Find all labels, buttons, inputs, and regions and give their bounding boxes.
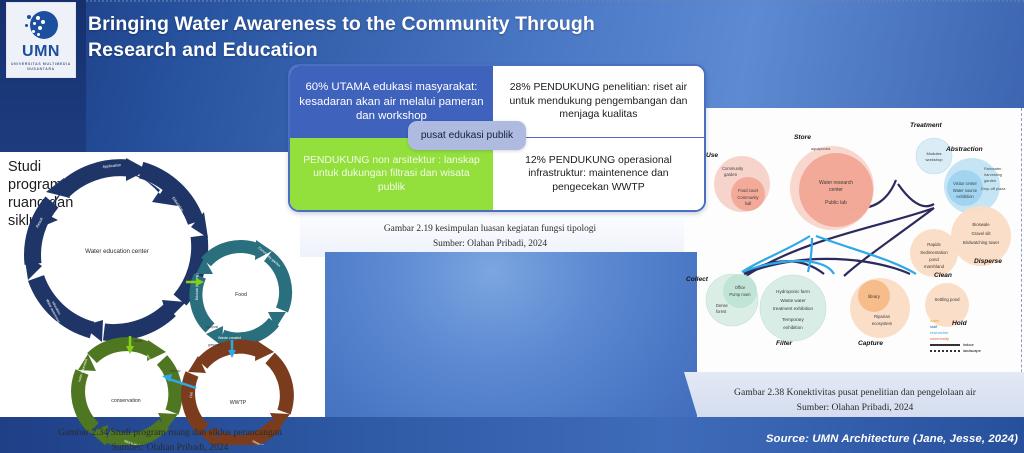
svg-text:Edukasi (farming): Edukasi (farming) bbox=[195, 273, 199, 300]
logo-dot-icon bbox=[41, 20, 45, 24]
bubble-group-clean: Rapids Sedimentation pond marshland bbox=[910, 229, 958, 277]
svg-text:ecosystem: ecosystem bbox=[872, 321, 893, 326]
footer-source-note: Source: UMN Architecture (Jane, Jesse, 2… bbox=[766, 433, 1018, 445]
logo-dot-icon bbox=[37, 33, 40, 36]
svg-text:Bioswale: Bioswale bbox=[972, 222, 990, 227]
svg-text:edukasi: edukasi bbox=[165, 284, 175, 296]
svg-text:Drop-off plaza: Drop-off plaza bbox=[981, 186, 1006, 191]
logo-dot-icon bbox=[27, 15, 31, 19]
legend-swatch-solid-icon bbox=[930, 344, 960, 346]
svg-text:greywater: greywater bbox=[208, 343, 223, 347]
svg-text:Modules: Modules bbox=[926, 151, 941, 156]
logo-dot-icon bbox=[32, 30, 35, 33]
logo-dot-icon bbox=[36, 16, 40, 20]
svg-text:Rainwater: Rainwater bbox=[984, 166, 1002, 171]
logo-tagline: UNIVERSITAS MULTIMEDIA NUSANTARA bbox=[7, 62, 75, 72]
logo-dot-icon bbox=[33, 22, 36, 25]
bubble-group-filter: Hydroponic farm Waste water treatment ex… bbox=[760, 275, 826, 341]
svg-text:Food court: Food court bbox=[738, 188, 759, 193]
page-title: Bringing Water Awareness to the Communit… bbox=[88, 12, 648, 63]
ring-water-education-center: Water education center Application Educa… bbox=[24, 158, 208, 342]
svg-text:forest: forest bbox=[716, 309, 727, 314]
svg-text:Community: Community bbox=[722, 166, 744, 171]
zone-label-disperse: Disperse bbox=[974, 258, 1002, 265]
svg-text:siklus: siklus bbox=[134, 339, 142, 343]
svg-text:aquaponics: aquaponics bbox=[811, 147, 831, 151]
svg-text:Birdwatching tower: Birdwatching tower bbox=[963, 240, 1000, 245]
middle-caption-source: Sumber: Olahan Pribadi, 2024 bbox=[330, 237, 650, 252]
bubble-group-collect: Office Pump room Dense forest bbox=[706, 274, 758, 326]
zone-label-capture: Capture bbox=[858, 340, 883, 347]
svg-text:iPutl: iPutl bbox=[186, 277, 192, 281]
legend-swatch-dotted-icon bbox=[930, 350, 960, 352]
bubble-group-use: Community garden Food court Community ha… bbox=[714, 156, 770, 212]
connectivity-diagram: Community garden Food court Community ha… bbox=[684, 108, 1024, 378]
middle-figure-caption: Gambar 2.19 kesimpulan luasan kegiatan f… bbox=[330, 222, 650, 251]
cycle-diagram: Water education center Application Educa… bbox=[0, 150, 325, 445]
bubble-group-store: Water research center Public lab aquapon… bbox=[790, 146, 874, 230]
zone-label-abstraction: Abstraction bbox=[946, 146, 983, 153]
svg-text:garden: garden bbox=[724, 172, 738, 177]
svg-text:center: center bbox=[829, 187, 843, 193]
logo-dot-icon bbox=[38, 26, 42, 30]
svg-text:conservation: conservation bbox=[111, 398, 141, 404]
svg-text:Out: Out bbox=[189, 392, 194, 398]
matrix-cell-operational-support: 12% PENDUKUNG operasional infrastruktur:… bbox=[493, 138, 704, 210]
left-caption-title: Gambar 2.34 Studi program ruang dan sikl… bbox=[20, 426, 320, 441]
svg-text:Temporary: Temporary bbox=[782, 317, 804, 322]
svg-text:Settling pond: Settling pond bbox=[934, 297, 960, 302]
svg-text:Hydroponic farm: Hydroponic farm bbox=[776, 289, 810, 294]
diagram-legend: water staff researcher community indoor … bbox=[930, 318, 1022, 354]
logo-acronym: UMN bbox=[22, 44, 60, 60]
matrix-center-pill: pusat edukasi publik bbox=[408, 121, 526, 150]
svg-text:hall: hall bbox=[745, 201, 752, 206]
zone-label-collect: Collect bbox=[686, 276, 708, 283]
svg-text:Food: Food bbox=[235, 292, 247, 298]
svg-text:Dense: Dense bbox=[716, 303, 729, 308]
legend-label-staff: staff bbox=[930, 324, 937, 330]
svg-text:Water research: Water research bbox=[819, 180, 853, 186]
slide-canvas: UMN UNIVERSITAS MULTIMEDIA NUSANTARA Bri… bbox=[0, 0, 1024, 453]
svg-text:Public lab: Public lab bbox=[825, 200, 847, 206]
svg-text:WWTP: WWTP bbox=[230, 400, 247, 406]
legend-label-indoor: indoor bbox=[963, 342, 974, 348]
svg-text:Riparian: Riparian bbox=[874, 314, 891, 319]
bubble-group-disperse: Bioswale Gravel silt Birdwatching tower bbox=[951, 206, 1011, 266]
left-figure-caption: Gambar 2.34 Studi program ruang dan sikl… bbox=[20, 426, 320, 453]
svg-text:Waste created: Waste created bbox=[218, 336, 241, 340]
umn-logo: UMN UNIVERSITAS MULTIMEDIA NUSANTARA bbox=[6, 2, 76, 78]
svg-text:In: In bbox=[234, 353, 237, 357]
svg-text:Water education center: Water education center bbox=[85, 248, 149, 255]
svg-text:library: library bbox=[868, 294, 881, 299]
svg-text:compost: compost bbox=[206, 325, 218, 329]
zone-label-store: Store bbox=[794, 134, 811, 141]
zone-label-treatment: Treatment bbox=[910, 122, 942, 129]
svg-text:marshland: marshland bbox=[924, 264, 945, 269]
middle-caption-title: Gambar 2.19 kesimpulan luasan kegiatan f… bbox=[330, 222, 650, 237]
svg-text:Water source: Water source bbox=[953, 188, 978, 193]
svg-text:Rapids: Rapids bbox=[927, 242, 940, 247]
svg-text:Visitor center: Visitor center bbox=[953, 181, 977, 186]
zone-label-use: Use bbox=[706, 152, 718, 159]
ring-food: Food Community garden Waste created Eduk… bbox=[195, 240, 286, 346]
svg-text:harvesting: harvesting bbox=[984, 172, 1002, 177]
zone-label-clean: Clean bbox=[934, 272, 952, 279]
legend-label-water: water bbox=[930, 318, 940, 324]
svg-text:Sedimentation: Sedimentation bbox=[920, 250, 948, 255]
svg-text:menuju: menuju bbox=[170, 369, 181, 373]
svg-text:Waste water: Waste water bbox=[780, 298, 806, 303]
bubble-group-abstraction: Visitor center Water source exhibition R… bbox=[944, 158, 1006, 214]
cycle-diagram-svg: Water education center Application Educa… bbox=[0, 150, 325, 445]
svg-text:Gravel silt: Gravel silt bbox=[971, 231, 991, 236]
svg-text:pond: pond bbox=[929, 257, 939, 262]
logo-dot-icon bbox=[25, 24, 28, 27]
left-caption-source: Sumber: Olahan Pribadi, 2024 bbox=[20, 441, 320, 453]
svg-text:exhibition: exhibition bbox=[956, 194, 974, 199]
svg-text:exhibition: exhibition bbox=[783, 325, 803, 330]
zone-label-filter: Filter bbox=[776, 340, 792, 347]
right-caption-source: Sumber: Olahan Pribadi, 2024 bbox=[690, 401, 1020, 416]
right-figure-caption: Gambar 2.38 Konektivitas pusat penelitia… bbox=[690, 386, 1020, 416]
svg-text:Community: Community bbox=[737, 195, 759, 200]
bubble-group-treatment: Modules workshop bbox=[916, 138, 952, 174]
legend-label-researcher: researcher bbox=[930, 330, 949, 336]
legend-item-landscape: landscape bbox=[930, 348, 1022, 354]
right-caption-title: Gambar 2.38 Konektivitas pusat penelitia… bbox=[690, 386, 1020, 401]
bubble-group-capture: library Riparian ecosystem bbox=[850, 278, 910, 338]
header-top-dotted-rule bbox=[86, 0, 1024, 2]
svg-text:garden: garden bbox=[984, 178, 996, 183]
legend-label-community: community bbox=[930, 336, 949, 342]
legend-label-landscape: landscape bbox=[963, 348, 981, 354]
logo-circle-shape bbox=[30, 11, 58, 39]
umn-logo-mark-icon bbox=[24, 11, 58, 41]
svg-text:Office: Office bbox=[735, 285, 746, 290]
svg-text:workshop: workshop bbox=[925, 157, 943, 162]
svg-text:treatment exhibition: treatment exhibition bbox=[773, 306, 814, 311]
svg-text:Pump room: Pump room bbox=[729, 292, 751, 297]
